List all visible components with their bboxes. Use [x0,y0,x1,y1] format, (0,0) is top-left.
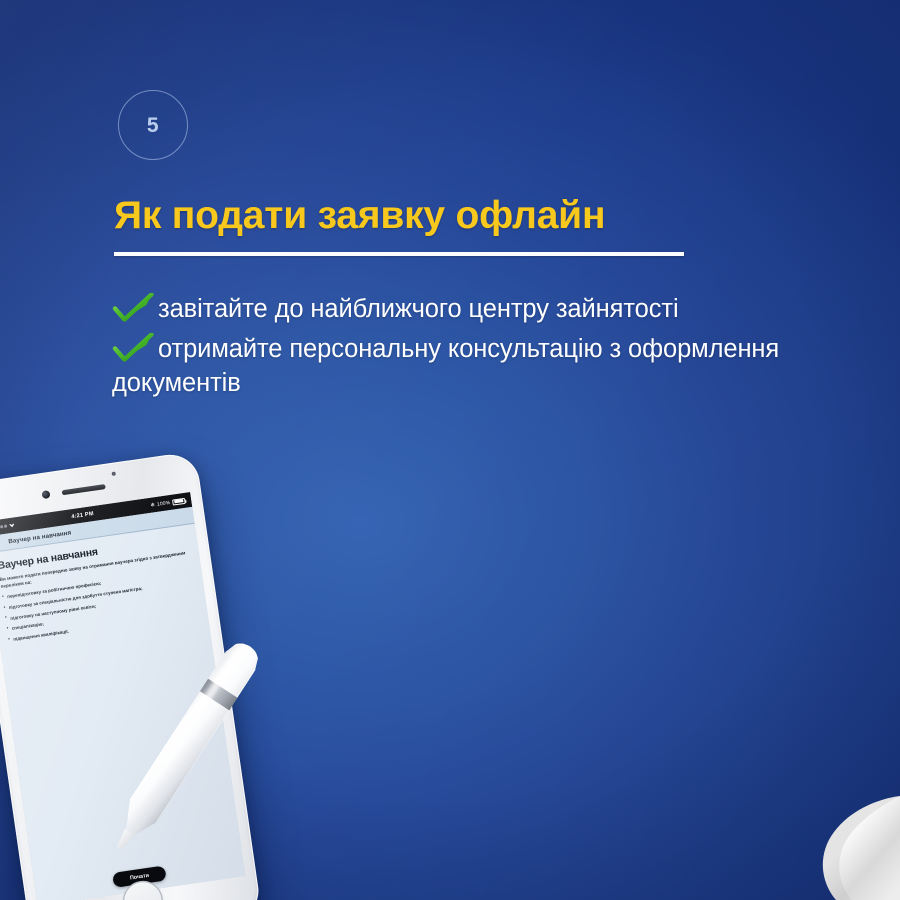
check-icon [112,293,154,323]
list-item-label: завітайте до найближчого центру зайнятос… [158,295,679,323]
list-item-label: отримайте персональну консультацію з офо… [112,335,779,397]
battery-full-icon [172,497,186,505]
arrow-left-icon[interactable]: ← [0,538,2,548]
title-divider [114,252,684,256]
bluetooth-icon: ✻ [150,502,155,509]
bullet-list: завітайте до найближчого центру зайнятос… [112,292,802,406]
step-number-label: 5 [147,115,159,136]
page-curl-corner [796,796,900,900]
battery-percent-label: 100% [157,499,171,507]
signal-strength-icon [0,523,15,531]
status-bar-right: ✻ 100% [150,497,185,508]
phone-mockup-stage: 4:21 PM ✻ 100% ← Ваучер на навчання Вауч… [0,455,288,900]
page-title: Як подати заявку офлайн [114,195,734,237]
check-icon [112,333,154,363]
list-item: отримайте персональну консультацію з офо… [112,332,802,400]
step-number-badge: 5 [118,90,188,160]
slide-canvas: 5 Як подати заявку офлайн зав [0,0,900,900]
list-item: завітайте до найближчого центру зайнятос… [112,292,802,326]
